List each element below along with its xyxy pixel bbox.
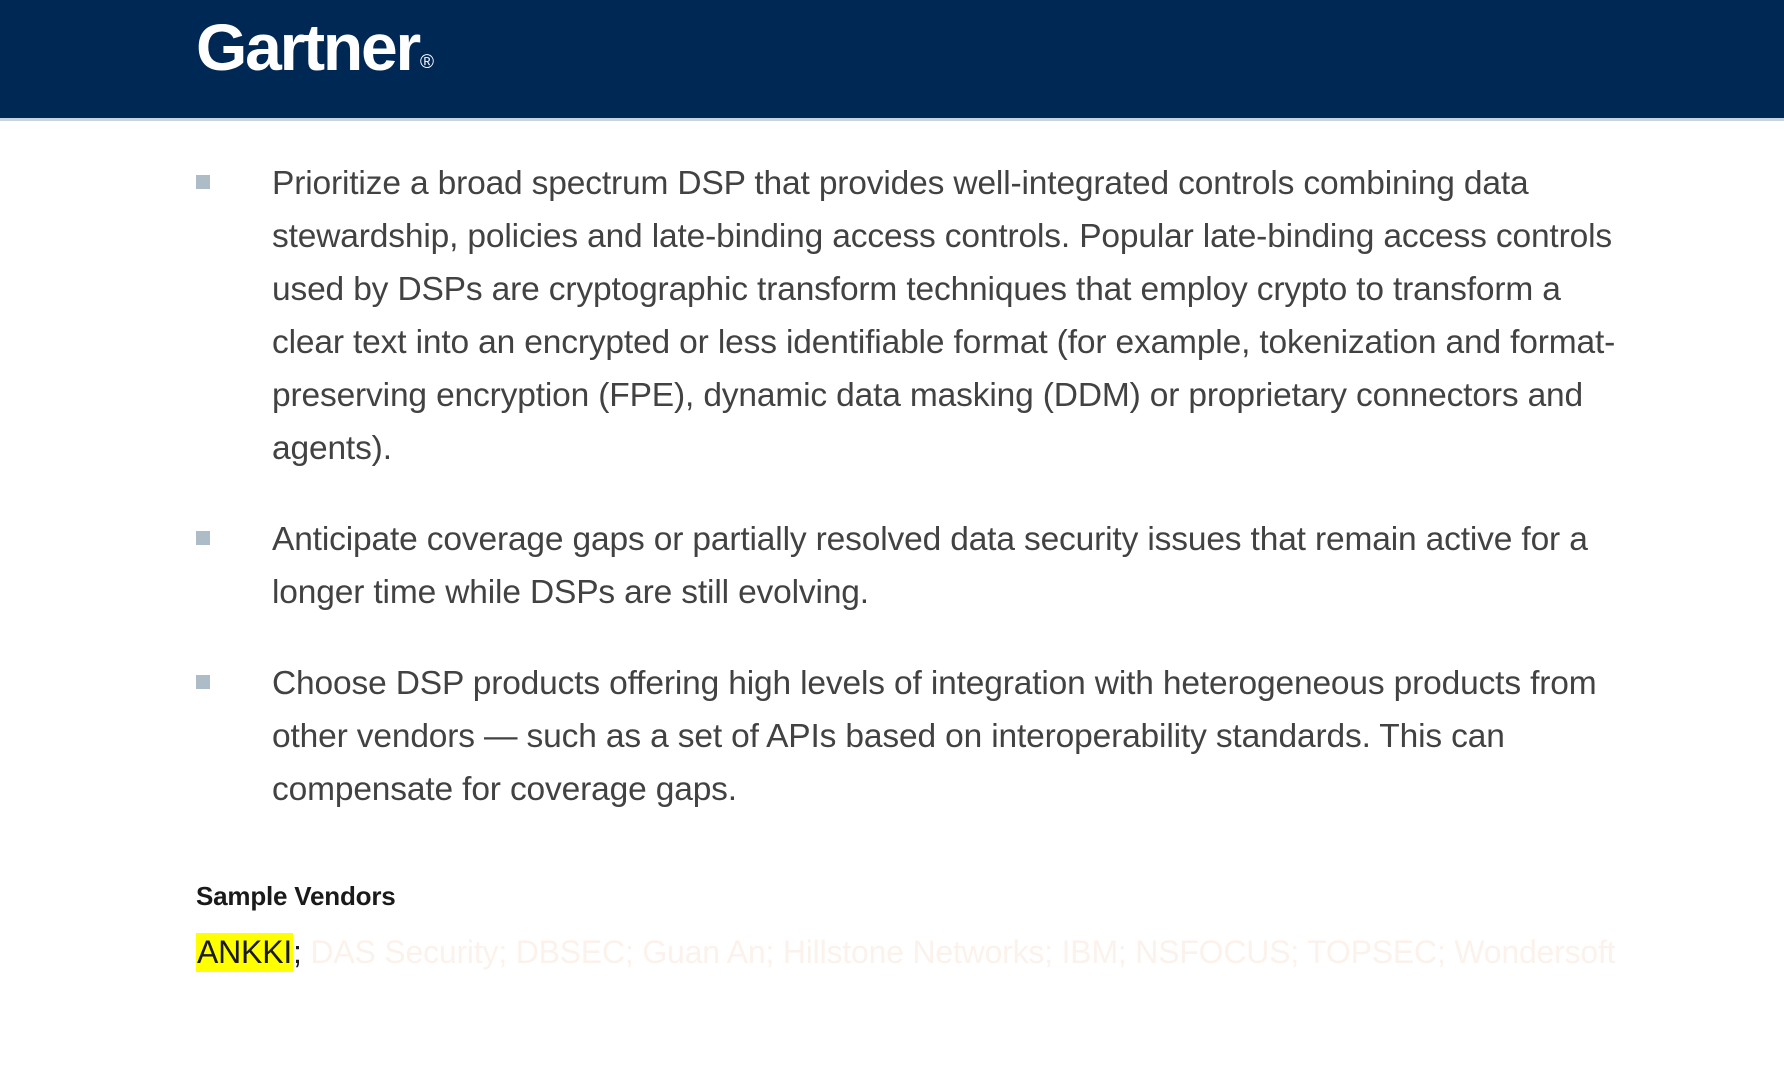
registered-trademark-icon: ® — [420, 52, 434, 73]
bullet-item: Choose DSP products offering high levels… — [196, 657, 1616, 816]
bullet-item: Anticipate coverage gaps or partially re… — [196, 513, 1616, 619]
sample-vendors-heading: Sample Vendors — [196, 876, 1676, 916]
square-bullet-icon — [196, 675, 210, 689]
brand-header-band: Gartner® — [0, 0, 1784, 118]
square-bullet-icon — [196, 531, 210, 545]
gartner-logo: Gartner® — [196, 14, 433, 80]
bullet-item: Prioritize a broad spectrum DSP that pro… — [196, 157, 1616, 475]
gartner-logo-wordmark: Gartner — [196, 10, 419, 84]
recommendations-bullet-list: Prioritize a broad spectrum DSP that pro… — [196, 157, 1616, 816]
bullet-text: Anticipate coverage gaps or partially re… — [272, 513, 1616, 619]
vendor-separator: ; — [293, 934, 302, 970]
square-bullet-icon — [196, 175, 210, 189]
sample-vendors-list: ANKKI; DAS Security; DBSEC; Guan An; Hil… — [196, 926, 1676, 978]
sample-vendors-block: Sample Vendors ANKKI; DAS Security; DBSE… — [196, 876, 1676, 978]
highlighted-vendor-ankki: ANKKI — [196, 933, 293, 972]
slide-content-area: Prioritize a broad spectrum DSP that pro… — [0, 121, 1784, 1090]
bullet-text: Prioritize a broad spectrum DSP that pro… — [272, 157, 1616, 475]
bullet-text: Choose DSP products offering high levels… — [272, 657, 1616, 816]
faded-vendor-names: DAS Security; DBSEC; Guan An; Hillstone … — [302, 934, 1616, 970]
